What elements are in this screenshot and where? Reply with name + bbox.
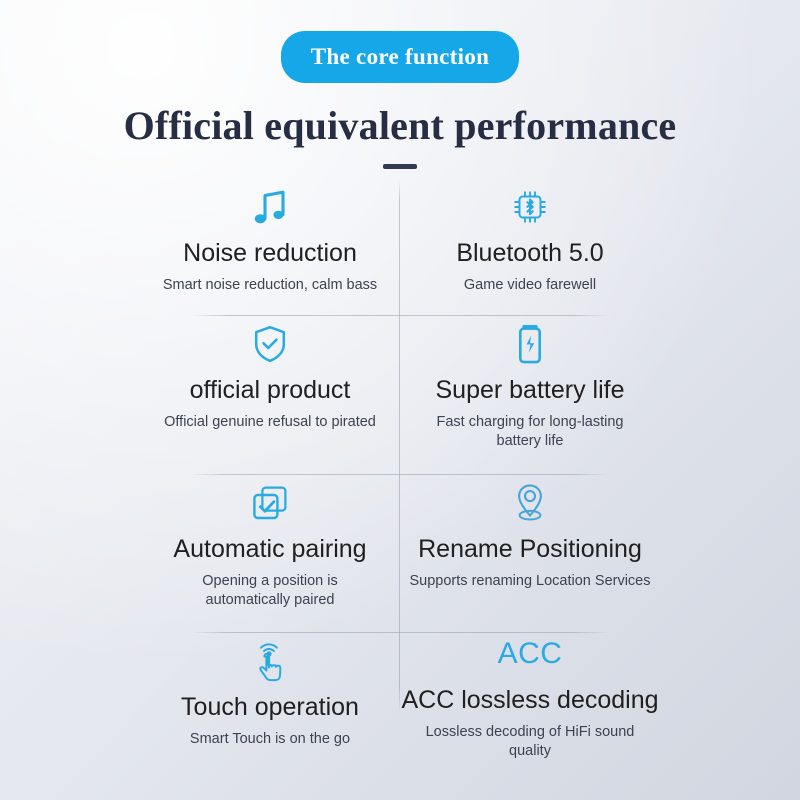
title-underline-rule [383,164,417,169]
feature-description: Lossless decoding of HiFi sound quality [406,723,654,760]
feature-cell-noise-reduction: Noise reduction Smart noise reduction, c… [140,178,400,315]
bluetooth-chip-icon [510,185,550,229]
touch-tap-icon [252,639,288,683]
feature-row: Noise reduction Smart noise reduction, c… [140,178,660,315]
feature-description: Smart noise reduction, calm bass [163,276,377,295]
feature-cell-automatic-pairing: Automatic pairing Opening a position is … [140,474,400,632]
feature-cell-official-product: official product Official genuine refusa… [140,315,400,474]
feature-cell-battery: Super battery life Fast charging for lon… [400,315,660,474]
feature-title: Noise reduction [183,239,357,267]
feature-highlights-page: The core function Official equivalent pe… [0,0,800,800]
feature-cell-bluetooth: Bluetooth 5.0 Game video farewell [400,178,660,315]
page-header: The core function Official equivalent pe… [0,0,800,169]
battery-charging-icon [517,322,543,366]
music-note-icon [252,185,288,229]
feature-description: Supports renaming Location Services [410,572,651,591]
feature-row: Automatic pairing Opening a position is … [140,474,660,632]
badge-container: The core function [0,31,800,83]
feature-title: ACC lossless decoding [401,686,658,714]
feature-grid: Noise reduction Smart noise reduction, c… [140,178,660,778]
feature-title: Bluetooth 5.0 [456,239,603,267]
location-pin-icon [512,481,548,525]
feature-description: Smart Touch is on the go [190,730,350,749]
feature-cell-rename-positioning: Rename Positioning Supports renaming Loc… [400,474,660,632]
feature-row: Touch operation Smart Touch is on the go… [140,632,660,778]
feature-description: Official genuine refusal to pirated [164,413,376,432]
feature-title: Super battery life [436,376,625,404]
shield-check-icon [252,322,288,366]
feature-title: official product [190,376,351,404]
feature-title: Touch operation [181,693,359,721]
stacked-squares-check-icon [250,481,290,525]
feature-cell-acc-decoding: ACC ACC lossless decoding Lossless decod… [400,632,660,778]
feature-description: Opening a position is automatically pair… [188,572,353,609]
feature-title: Automatic pairing [173,535,366,563]
feature-description: Fast charging for long-lasting battery l… [423,413,638,450]
feature-row: official product Official genuine refusa… [140,315,660,474]
acc-text-icon: ACC [498,632,563,676]
core-function-badge: The core function [281,31,519,83]
page-title: Official equivalent performance [0,105,800,147]
feature-title: Rename Positioning [418,535,642,563]
feature-description: Game video farewell [464,276,596,295]
feature-cell-touch-operation: Touch operation Smart Touch is on the go [140,632,400,778]
